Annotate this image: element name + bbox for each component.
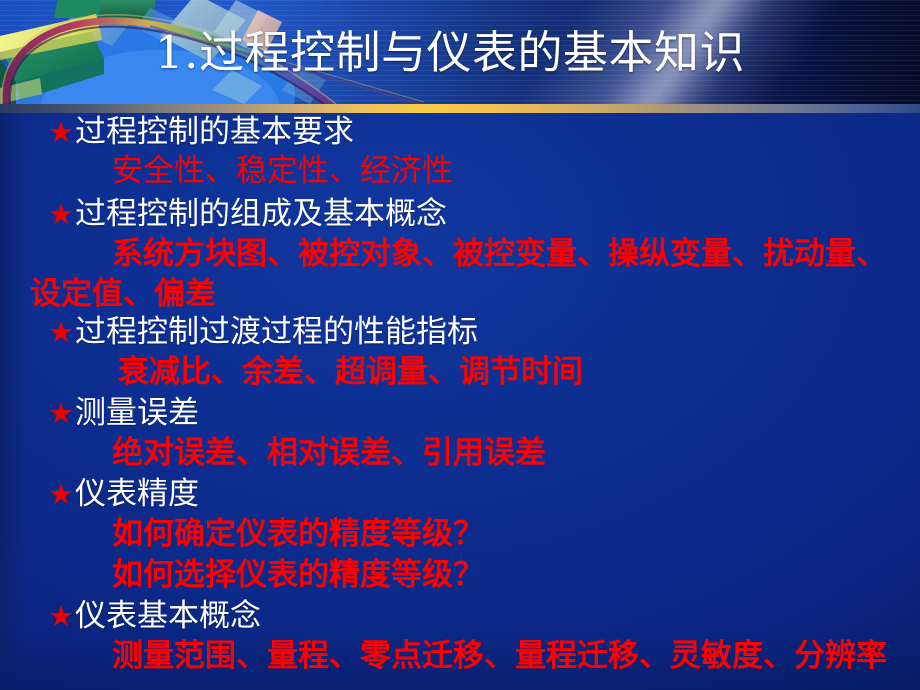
bullet-heading-6: ★仪表基本概念 bbox=[0, 597, 920, 635]
heading-text: 测量误差 bbox=[75, 395, 199, 431]
star-bullet-icon: ★ bbox=[48, 115, 74, 149]
star-bullet-icon: ★ bbox=[48, 599, 74, 633]
list-item: ★仪表精度 bbox=[0, 475, 920, 513]
sub-text-5-1: 如何选择仪表的精度等级？ bbox=[0, 555, 920, 595]
list-subitem: 如何确定仪表的精度等级？ bbox=[0, 514, 920, 554]
heading-text: 过程控制的组成及基本概念 bbox=[75, 196, 447, 232]
heading-text: 过程控制的基本要求 bbox=[75, 114, 354, 150]
sub-text-6-0: 测量范围、量程、零点迁移、量程迁移、灵敏度、分辨率 bbox=[0, 636, 920, 676]
heading-text: 仪表精度 bbox=[75, 476, 199, 512]
list-subitem: 测量范围、量程、零点迁移、量程迁移、灵敏度、分辨率 bbox=[0, 636, 920, 676]
bullet-heading-2: ★过程控制的组成及基本概念 bbox=[0, 195, 920, 233]
list-subitem: 如何选择仪表的精度等级？ bbox=[0, 555, 920, 595]
bullet-heading-3: ★过程控制过渡过程的性能指标 bbox=[0, 313, 920, 351]
presentation-slide: 1.过程控制与仪表的基本知识 ★过程控制的基本要求 安全性、稳定性、经济性 ★过… bbox=[0, 0, 920, 690]
slide-title: 1.过程控制与仪表的基本知识 bbox=[0, 27, 900, 79]
star-bullet-icon: ★ bbox=[48, 396, 74, 430]
bullet-heading-1: ★过程控制的基本要求 bbox=[0, 113, 920, 151]
list-item: ★仪表基本概念 bbox=[0, 597, 920, 635]
slide-content-list: ★过程控制的基本要求 安全性、稳定性、经济性 ★过程控制的组成及基本概念 系统方… bbox=[0, 113, 920, 690]
list-subitem: 绝对误差、相对误差、引用误差 bbox=[0, 433, 920, 473]
gold-divider-bar bbox=[0, 104, 920, 113]
sub-text-3-0: 衰减比、余差、超调量、调节时间 bbox=[0, 352, 920, 392]
sub-text-2-0: 系统方块图、被控对象、被控变量、操纵变量、扰动量、设定值、偏差 bbox=[0, 234, 920, 314]
heading-text: 过程控制过渡过程的性能指标 bbox=[75, 314, 478, 350]
bullet-heading-5: ★仪表精度 bbox=[0, 475, 920, 513]
list-subitem: 系统方块图、被控对象、被控变量、操纵变量、扰动量、设定值、偏差 bbox=[0, 234, 920, 314]
heading-text: 仪表基本概念 bbox=[75, 598, 261, 634]
list-item: ★测量误差 bbox=[0, 394, 920, 432]
sub-text-1-0: 安全性、稳定性、经济性 bbox=[0, 151, 920, 191]
sub-text-5-0: 如何确定仪表的精度等级？ bbox=[0, 514, 920, 554]
list-item: ★过程控制的基本要求 bbox=[0, 113, 920, 151]
sub-text-4-0: 绝对误差、相对误差、引用误差 bbox=[0, 433, 920, 473]
list-item: ★过程控制过渡过程的性能指标 bbox=[0, 313, 920, 351]
star-bullet-icon: ★ bbox=[48, 315, 74, 349]
list-item: ★过程控制的组成及基本概念 bbox=[0, 195, 920, 233]
bullet-heading-4: ★测量误差 bbox=[0, 394, 920, 432]
star-bullet-icon: ★ bbox=[48, 477, 74, 511]
list-subitem: 安全性、稳定性、经济性 bbox=[0, 151, 920, 191]
list-subitem: 衰减比、余差、超调量、调节时间 bbox=[0, 352, 920, 392]
star-bullet-icon: ★ bbox=[48, 197, 74, 231]
